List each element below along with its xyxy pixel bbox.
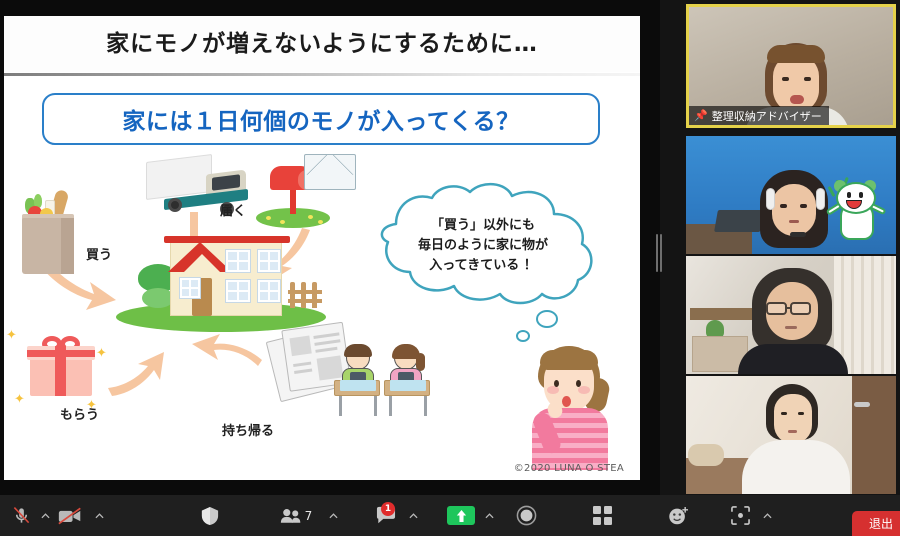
breakout-rooms-button[interactable] (584, 495, 620, 536)
meeting-toolbar: 7 1 (0, 495, 900, 536)
thought-bubble-tiny (516, 330, 530, 342)
thinking-girl-illustration (524, 346, 620, 470)
reactions-button[interactable] (660, 495, 696, 536)
chevron-up-icon (485, 513, 494, 519)
record-icon (516, 505, 537, 526)
gift-box-illustration (30, 338, 92, 396)
chat-button[interactable]: 1 (368, 495, 404, 536)
video-thumbnail-strip: 📌 整理収納アドバイザー (682, 0, 900, 495)
panel-resize-handle[interactable] (655, 231, 662, 275)
video-tile-4[interactable] (686, 376, 896, 494)
pin-icon: 📌 (694, 109, 708, 122)
slide-title-bar: 家にモノが増えないようにするために… (4, 16, 640, 72)
chevron-up-icon (763, 513, 772, 519)
mascot-character-icon (832, 180, 884, 242)
slide-question-box: 家には１日何個のモノが入ってくる？ (42, 93, 600, 145)
breakout-rooms-icon (593, 506, 612, 525)
chevron-up-icon (409, 513, 418, 519)
slide-title: 家にモノが増えないようにするために… (4, 24, 640, 58)
slide-title-rule (4, 73, 640, 76)
label-deliver: 届く (220, 200, 246, 219)
video-options-caret[interactable] (92, 495, 106, 536)
thought-line-1: 「買う」以外にも (356, 216, 610, 236)
video-tile-1[interactable]: 📌 整理収納アドバイザー (686, 4, 896, 128)
record-button[interactable] (508, 495, 544, 536)
house-illustration (116, 220, 326, 338)
label-receive: もらう (60, 404, 99, 423)
audio-options-caret[interactable] (38, 495, 52, 536)
reactions-icon (668, 506, 689, 526)
leave-meeting-label: 退出 (869, 515, 893, 532)
security-button[interactable] (192, 495, 228, 536)
participants-options-caret[interactable] (326, 495, 340, 536)
video-button[interactable] (52, 495, 88, 536)
video-tile-2[interactable] (686, 136, 896, 254)
thought-cloud: 「買う」以外にも 毎日のように家に物が 入ってきている ！ (356, 182, 610, 306)
shield-icon (201, 506, 219, 526)
microphone-muted-icon (12, 506, 31, 525)
chat-options-caret[interactable] (406, 495, 420, 536)
video-tile-1-nametag: 📌 整理収納アドバイザー (689, 106, 829, 125)
label-bring-home: 持ち帰る (222, 420, 274, 439)
chevron-up-icon (329, 513, 338, 519)
remote-control-icon (731, 506, 750, 525)
chevron-up-icon (95, 513, 104, 519)
sparkle-icon: ✦ (96, 346, 107, 361)
slide-question-text: 家には１日何個のモノが入ってくる？ (122, 102, 519, 136)
shopping-bag-illustration (18, 192, 78, 274)
video-tile-3[interactable] (686, 256, 896, 374)
leave-meeting-button[interactable]: 退出 (852, 511, 900, 536)
students-desks-illustration (334, 344, 438, 420)
envelope-illustration (304, 154, 356, 190)
video-tile-1-name: 整理収納アドバイザー (712, 108, 822, 124)
slide-copyright: ©2020 LUNA O STEA (514, 463, 624, 474)
slide-diagram: 買う 届く (4, 148, 640, 480)
thought-line-2: 毎日のように家に物が (356, 236, 610, 256)
participants-button[interactable]: 7 (272, 495, 320, 536)
sparkle-icon: ✦ (6, 328, 17, 343)
share-options-caret[interactable] (482, 495, 496, 536)
share-screen-icon (455, 509, 468, 523)
thought-bubble-small (536, 310, 558, 328)
chat-unread-badge: 1 (381, 502, 395, 516)
remote-options-caret[interactable] (760, 495, 774, 536)
audio-button[interactable] (4, 495, 38, 536)
participants-count: 7 (305, 509, 313, 523)
chevron-up-icon (41, 513, 50, 519)
presentation-slide: 家にモノが増えないようにするために… 家には１日何個のモノが入ってくる？ (4, 16, 640, 480)
label-buy: 買う (86, 244, 112, 263)
zoom-meeting-window: 家にモノが増えないようにするために… 家には１日何個のモノが入ってくる？ (0, 0, 900, 536)
remote-control-button[interactable] (722, 495, 758, 536)
video-off-icon (58, 507, 82, 525)
participants-icon (280, 508, 302, 524)
thought-line-3: 入ってきている ！ (356, 256, 610, 276)
share-screen-button[interactable] (447, 506, 475, 525)
thought-cloud-text: 「買う」以外にも 毎日のように家に物が 入ってきている ！ (356, 216, 610, 276)
shared-screen-area[interactable]: 家にモノが増えないようにするために… 家には１日何個のモノが入ってくる？ (0, 0, 660, 495)
sparkle-icon: ✦ (14, 392, 25, 407)
